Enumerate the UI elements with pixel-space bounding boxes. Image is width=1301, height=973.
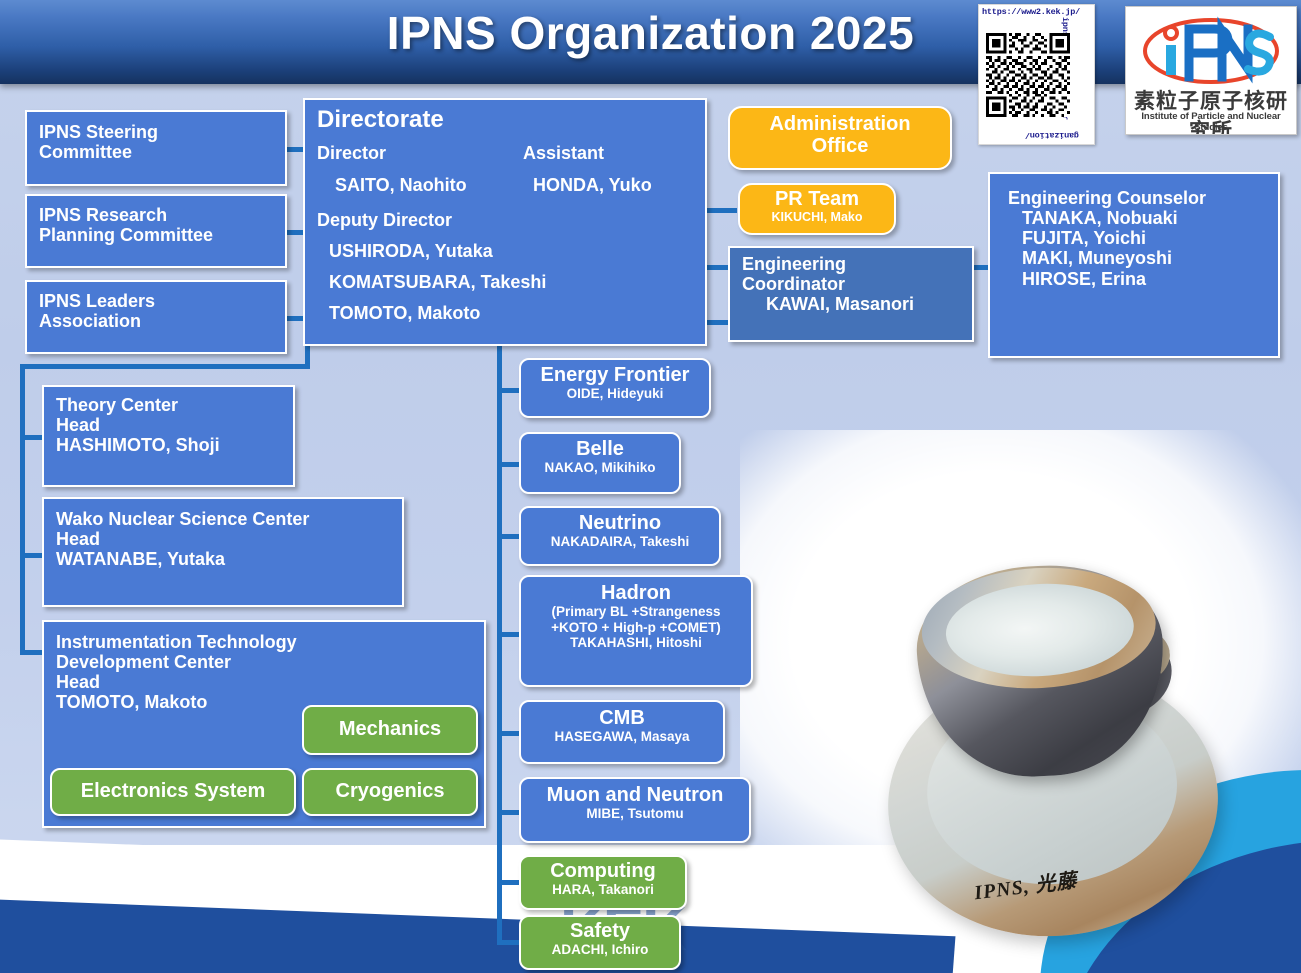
box-safety[interactable]: Safety ADACHI, Ichiro: [519, 915, 681, 970]
electronics-system-label: Electronics System: [52, 780, 294, 802]
muon-neutron-name: MIBE, Tsutomu: [521, 806, 749, 821]
leaders-line-2: Association: [39, 311, 285, 331]
connector-prteam: [705, 208, 737, 213]
box-wako-nuclear-science-center[interactable]: Wako Nuclear Science Center Head WATANAB…: [42, 497, 404, 607]
research-line-2: Planning Committee: [39, 225, 285, 245]
research-line-1: IPNS Research: [39, 205, 285, 225]
mechanics-label: Mechanics: [304, 718, 476, 740]
box-mechanics[interactable]: Mechanics: [302, 705, 478, 755]
box-energy-frontier[interactable]: Energy Frontier OIDE, Hideyuki: [519, 358, 711, 418]
box-ipns-steering-committee[interactable]: IPNS Steering Committee: [25, 110, 287, 186]
eng-counselor-name-2: FUJITA, Yoichi: [1022, 228, 1278, 248]
organization-chart-page: IPNS, 光藤 erators. KEK IPNS Organization …: [0, 0, 1301, 973]
directorate-deputy-label: Deputy Director: [317, 210, 452, 231]
qr-url-top: https://www2.kek.jp/: [982, 7, 1091, 17]
wako-center-role: Head: [56, 529, 402, 549]
connector-trunk-left: [20, 364, 310, 369]
box-neutrino[interactable]: Neutrino NAKADAIRA, Takeshi: [519, 506, 721, 566]
cryogenics-label: Cryogenics: [304, 780, 476, 802]
energy-frontier-name: OIDE, Hideyuki: [521, 386, 709, 401]
cmb-title: CMB: [521, 707, 723, 729]
box-belle[interactable]: Belle NAKAO, Mikihiko: [519, 432, 681, 494]
page-header: IPNS Organization 2025: [0, 0, 1301, 84]
ipns-logo-en-name: Institute of Particle and Nuclear Studie…: [1126, 111, 1296, 133]
eng-counselor-title: Engineering Counselor: [1008, 188, 1278, 208]
wako-center-name: WATANABE, Yutaka: [56, 549, 402, 569]
box-muon-and-neutron[interactable]: Muon and Neutron MIBE, Tsutomu: [519, 777, 751, 843]
itdc-title-line-2: Development Center: [56, 652, 484, 672]
connector-wako: [20, 553, 44, 558]
box-computing[interactable]: Computing HARA, Takanori: [519, 855, 687, 910]
box-engineering-coordinator[interactable]: Engineering Coordinator KAWAI, Masanori: [728, 246, 974, 342]
page-title: IPNS Organization 2025: [0, 6, 1301, 60]
box-directorate[interactable]: Directorate Director Assistant SAITO, Na…: [303, 98, 707, 346]
directorate-assistant-name: HONDA, Yuko: [533, 175, 652, 196]
leaders-line-1: IPNS Leaders: [39, 291, 285, 311]
neutrino-title: Neutrino: [521, 512, 719, 534]
box-administration-office[interactable]: Administration Office: [728, 106, 952, 170]
belle-name: NAKAO, Mikihiko: [521, 460, 679, 475]
muon-neutron-title: Muon and Neutron: [521, 784, 749, 806]
steering-line-1: IPNS Steering: [39, 122, 285, 142]
admin-office-line-1: Administration: [730, 113, 950, 135]
cup-interior: [944, 579, 1137, 681]
directorate-director-name: SAITO, Naohito: [335, 175, 467, 196]
eng-coordinator-line-2: Coordinator: [742, 274, 972, 294]
eng-coordinator-line-1: Engineering: [742, 254, 972, 274]
pr-team-title: PR Team: [740, 188, 894, 210]
qr-code-card[interactable]: https://www2.kek.jp/ ipns/ja/about_ipns/…: [978, 4, 1095, 145]
cmb-name: HASEGAWA, Masaya: [521, 729, 723, 744]
box-theory-center[interactable]: Theory Center Head HASHIMOTO, Shoji: [42, 385, 295, 487]
connector-theory: [20, 435, 44, 440]
qr-code-icon: [986, 20, 1070, 130]
directorate-title: Directorate: [317, 106, 444, 134]
wako-center-title: Wako Nuclear Science Center: [56, 509, 402, 529]
teacup-photo: IPNS, 光藤: [866, 558, 1286, 958]
hadron-detail-1: (Primary BL +Strangeness: [521, 604, 751, 619]
directorate-director-label: Director: [317, 143, 386, 164]
admin-office-line-2: Office: [730, 135, 950, 157]
directorate-deputy-2: KOMATSUBARA, Takeshi: [329, 272, 546, 293]
box-hadron[interactable]: Hadron (Primary BL +Strangeness +KOTO + …: [519, 575, 753, 687]
eng-counselor-name-3: MAKI, Muneyoshi: [1022, 248, 1278, 268]
connector-trunk-down: [305, 344, 310, 366]
box-ipns-research-planning-committee[interactable]: IPNS Research Planning Committee: [25, 194, 287, 268]
box-cmb[interactable]: CMB HASEGAWA, Masaya: [519, 700, 725, 764]
directorate-deputy-1: USHIRODA, Yutaka: [329, 241, 493, 262]
eng-coordinator-name: KAWAI, Masanori: [766, 294, 972, 314]
energy-frontier-title: Energy Frontier: [521, 364, 709, 386]
safety-title: Safety: [521, 920, 679, 942]
box-engineering-counselor[interactable]: Engineering Counselor TANAKA, Nobuaki FU…: [988, 172, 1280, 358]
computing-name: HARA, Takanori: [521, 882, 685, 897]
directorate-assistant-label: Assistant: [523, 143, 604, 164]
box-cryogenics[interactable]: Cryogenics: [302, 768, 478, 816]
connector-itdc: [20, 650, 44, 655]
belle-title: Belle: [521, 438, 679, 460]
itdc-title-line-1: Instrumentation Technology: [56, 632, 484, 652]
steering-line-2: Committee: [39, 142, 285, 162]
itdc-role: Head: [56, 672, 484, 692]
theory-center-title: Theory Center: [56, 395, 293, 415]
hadron-title: Hadron: [521, 582, 751, 604]
hadron-detail-2: +KOTO + High-p +COMET): [521, 620, 751, 635]
box-pr-team[interactable]: PR Team KIKUCHI, Mako: [738, 183, 896, 235]
ipns-logo-card: 素粒子原子核研究所 Institute of Particle and Nucl…: [1125, 6, 1297, 135]
connector-projects-vertical: [497, 344, 502, 944]
hadron-name: TAKAHASHI, Hitoshi: [521, 635, 751, 650]
box-ipns-leaders-association[interactable]: IPNS Leaders Association: [25, 280, 287, 354]
connector-left-vertical: [20, 364, 25, 654]
box-electronics-system[interactable]: Electronics System: [50, 768, 296, 816]
ipns-logo-mark-icon: [1136, 11, 1286, 89]
directorate-deputy-3: TOMOTO, Makoto: [329, 303, 480, 324]
pr-team-name: KIKUCHI, Mako: [740, 210, 894, 224]
neutrino-name: NAKADAIRA, Takeshi: [521, 534, 719, 549]
computing-title: Computing: [521, 860, 685, 882]
cup-rim: [919, 562, 1159, 694]
theory-center-name: HASHIMOTO, Shoji: [56, 435, 293, 455]
theory-center-role: Head: [56, 415, 293, 435]
qr-url-bottom: ganization/: [1025, 130, 1079, 140]
eng-counselor-name-1: TANAKA, Nobuaki: [1022, 208, 1278, 228]
eng-counselor-name-4: HIROSE, Erina: [1022, 269, 1278, 289]
safety-name: ADACHI, Ichiro: [521, 942, 679, 957]
